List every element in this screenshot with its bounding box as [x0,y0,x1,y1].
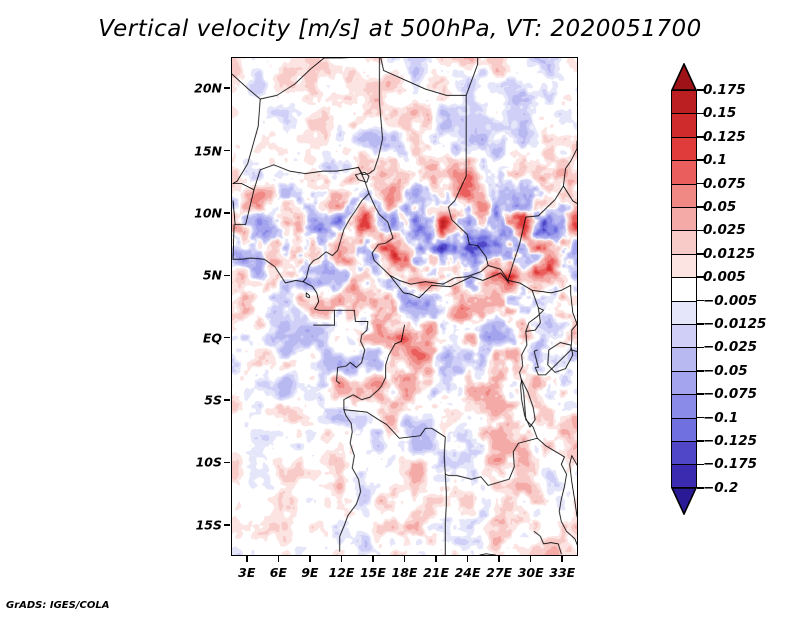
lon-label-27E: 27E [486,565,512,580]
colorbar-label: −0.0125 [703,316,766,332]
lat-label-10S: 10S [180,455,222,470]
lat-tick [224,399,230,401]
lon-tick [372,556,374,562]
lon-label-12E: 12E [328,565,354,580]
colorbar-segment [671,441,697,464]
colorbar-segment [671,137,697,160]
colorbar-label: 0.05 [703,199,736,215]
lon-tick [561,556,563,562]
colorbar-label: −0.05 [703,363,748,379]
lon-tick [435,556,437,562]
lat-tick [224,150,230,152]
colorbar-label: 0.075 [703,176,746,192]
lon-label-6E: 6E [270,565,287,580]
colorbar-label: −0.125 [703,433,757,449]
colorbar-label: −0.005 [703,293,757,309]
lat-label-15S: 15S [180,517,222,532]
lon-label-24E: 24E [455,565,481,580]
colorbar-segment [671,301,697,324]
footer-credit: GrADS: IGES/COLA [6,600,109,611]
lat-tick [224,462,230,464]
lon-label-30E: 30E [518,565,544,580]
lat-tick [224,524,230,526]
colorbar-segment [671,90,697,113]
vertical-velocity-field [232,58,577,555]
lat-label-5N: 5N [180,268,222,283]
colorbar-label: −0.075 [703,386,757,402]
lon-tick [309,556,311,562]
colorbar-label: −0.025 [703,339,757,355]
lon-label-9E: 9E [301,565,318,580]
colorbar-label: 0.0125 [703,246,755,262]
colorbar-segment [671,464,697,487]
lat-label-10N: 10N [180,205,222,220]
lat-tick [224,337,230,339]
colorbar-label: 0.005 [703,269,746,285]
page-title: Vertical velocity [m/s] at 500hPa, VT: 2… [0,16,800,42]
colorbar-segment [671,230,697,253]
colorbar: 0.1750.150.1250.10.0750.050.0250.01250.0… [671,63,697,550]
lat-tick [224,87,230,89]
map-plot-area [231,57,578,556]
colorbar-segment [671,324,697,347]
lat-label-20N: 20N [180,81,222,96]
lon-tick [498,556,500,562]
colorbar-label: 0.025 [703,222,746,238]
lon-label-18E: 18E [392,565,418,580]
lon-tick [530,556,532,562]
lat-tick [224,275,230,277]
colorbar-max-arrow [671,63,697,90]
lat-label-EQ: EQ [180,330,222,345]
lon-tick [404,556,406,562]
colorbar-label: 0.175 [703,82,746,98]
colorbar-segment [671,113,697,136]
colorbar-min-arrow [671,488,697,515]
colorbar-segment [671,254,697,277]
colorbar-label: 0.125 [703,129,746,145]
lon-label-33E: 33E [549,565,575,580]
colorbar-segment [671,394,697,417]
colorbar-label: −0.175 [703,456,757,472]
colorbar-segment [671,418,697,441]
lon-label-15E: 15E [360,565,386,580]
lon-tick [278,556,280,562]
lon-tick [467,556,469,562]
lon-label-21E: 21E [423,565,449,580]
colorbar-segment [671,347,697,370]
colorbar-segment [671,371,697,394]
colorbar-label: 0.15 [703,105,736,121]
lon-tick [246,556,248,562]
colorbar-segment [671,277,697,300]
colorbar-segment [671,184,697,207]
lon-tick [341,556,343,562]
lon-label-3E: 3E [238,565,255,580]
colorbar-label: 0.1 [703,152,727,168]
colorbar-label: −0.1 [703,410,738,426]
lat-label-5S: 5S [180,393,222,408]
colorbar-label: −0.2 [703,480,738,496]
colorbar-segment [671,160,697,183]
lat-tick [224,212,230,214]
lat-label-15N: 15N [180,143,222,158]
colorbar-segment [671,207,697,230]
